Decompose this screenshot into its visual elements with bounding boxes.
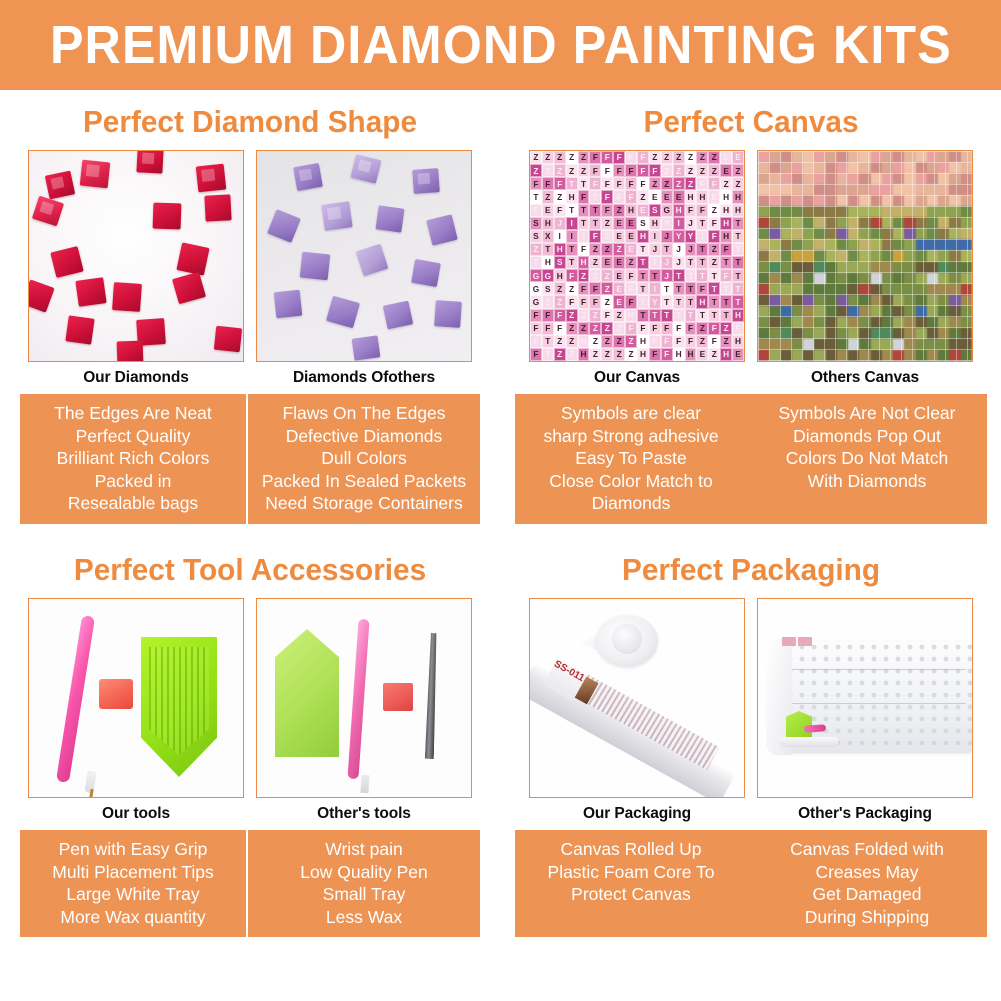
symbol-cell: Z [613,309,625,322]
symbol-cell: T [637,309,649,322]
symbol-cell: F [685,335,697,348]
symbol-cell: E [732,348,744,361]
symbol-cell: F [566,269,578,282]
symbol-cell: Z [566,348,578,361]
symbol-cell: H [685,190,697,203]
symbol-cell: T [637,269,649,282]
symbol-cell: Z [613,335,625,348]
symbol-cell: H [720,230,732,243]
symbol-cell: Z [661,151,673,164]
symbol-cell: F [625,190,637,203]
symbol-cell: Z [566,151,578,164]
photo-our-canvas: ZZZZZFFFFFZZZZZZEEZZZZZFFFFFFZZZZZEZFFFT… [529,150,745,362]
symbol-cell: E [661,190,673,203]
symbol-cell: F [589,164,601,177]
symbol-cell: Z [554,348,566,361]
symbol-cell: G [530,295,542,308]
mailer-seam [776,703,966,704]
symbol-cell: F [625,151,637,164]
panel-our-diamonds: The Edges Are Neat Perfect Quality Brill… [20,394,246,524]
panel-pair: Canvas Rolled Up Plastic Foam Core To Pr… [501,830,1001,937]
symbol-cell: F [578,243,590,256]
symbol-cell: F [649,322,661,335]
symbol-cell: Z [685,164,697,177]
caption-our-diamonds: Our Diamonds [28,369,244,387]
panel-line: Canvas Rolled Up [517,838,745,861]
symbol-cell: Z [589,269,601,282]
symbol-cell: T [732,217,744,230]
panel-line: Plastic Foam Core To [517,861,745,884]
photo-our-diamonds [28,150,244,362]
symbol-cell: T [566,256,578,269]
symbol-cell: E [613,217,625,230]
symbol-cell: G [530,269,542,282]
symbol-cell: H [696,295,708,308]
symbol-cell: Z [554,164,566,177]
symbol-cell: Z [696,322,708,335]
symbol-cell: T [578,217,590,230]
symbol-cell: Z [661,177,673,190]
symbol-cell: Z [625,348,637,361]
symbol-cell: Z [601,243,613,256]
symbol-cell: H [732,190,744,203]
symbol-cell: H [554,243,566,256]
mailer-tab-icon [782,637,796,646]
panel-line: Low Quality Pen [250,861,478,884]
symbol-cell: E [542,204,554,217]
caption-other-tools: Other's tools [256,805,472,823]
symbol-cell: Z [601,322,613,335]
panel-line: Packed in [22,470,244,493]
symbol-cell: H [720,204,732,217]
panel-other-diamonds: Flaws On The Edges Defective Diamonds Du… [248,394,480,524]
symbol-cell: F [601,204,613,217]
tweezers-icon [425,633,438,759]
symbol-cell: H [696,190,708,203]
symbol-cell: Z [613,348,625,361]
symbol-cell: Z [708,348,720,361]
symbol-cell: H [542,256,554,269]
symbol-cell: H [720,190,732,203]
symbol-cell: T [637,243,649,256]
section-canvas: Perfect Canvas ZZZZZFFFFFZZZZZZEEZZZZZFF… [501,92,1001,540]
panel-line: sharp Strong adhesive [517,425,745,448]
symbol-cell: Z [589,256,601,269]
symbol-cell: H [673,348,685,361]
pen-needle-icon [89,789,93,798]
symbol-cell: T [661,243,673,256]
caption-our-packaging: Our Packaging [529,805,745,823]
symbol-cell: F [637,164,649,177]
symbol-cell: F [625,282,637,295]
symbol-cell: F [566,295,578,308]
symbol-cell: Z [589,243,601,256]
panel-line: Symbols Are Not Clear [749,402,985,425]
symbol-cell: F [637,177,649,190]
symbol-cell: Z [601,335,613,348]
symbol-cell: Z [578,151,590,164]
symbol-cell: T [661,282,673,295]
panel-line: Flaws On The Edges [250,402,478,425]
symbol-cell: Z [554,151,566,164]
symbol-cell: J [554,217,566,230]
panel-pair: Pen with Easy Grip Multi Placement Tips … [0,830,500,937]
symbol-cell: F [601,151,613,164]
symbol-cell: T [696,256,708,269]
symbol-cell: Z [708,243,720,256]
symbol-cell: G [542,269,554,282]
symbol-cell: F [696,204,708,217]
photo-other-diamonds [256,150,472,362]
red-diamonds-art [29,151,243,361]
symbol-cell: F [673,335,685,348]
symbol-cell: T [720,295,732,308]
symbol-cell: F [708,335,720,348]
wax-square-icon [383,683,413,711]
symbol-cell: F [613,151,625,164]
symbol-cell: Z [673,164,685,177]
symbol-cell: F [589,295,601,308]
photo-our-packaging: SS-011 [529,598,745,798]
symbol-cell: T [708,309,720,322]
symbol-cell: T [685,269,697,282]
symbol-cell: F [625,177,637,190]
symbol-cell: Z [708,151,720,164]
caption-pair: Our Packaging Other's Packaging [501,805,1001,823]
symbol-cell: T [696,230,708,243]
symbol-cell: Z [613,243,625,256]
panel-line: Creases May [749,861,985,884]
panel-other-packaging: Canvas Folded with Creases May Get Damag… [747,830,987,937]
symbol-cell: T [685,282,697,295]
symbol-cell: Z [554,282,566,295]
symbol-cell: Z [673,177,685,190]
symbol-cell: F [613,177,625,190]
symbol-cell: Z [589,309,601,322]
symbol-cell: Z [542,164,554,177]
symbol-cell: T [732,256,744,269]
symbol-cell: F [554,309,566,322]
symbol-cell: T [566,243,578,256]
symbol-cell: T [589,204,601,217]
symbol-cell: T [589,217,601,230]
photo-pair [0,150,500,362]
symbol-cell: F [696,177,708,190]
panel-line: Diamonds [517,492,745,515]
symbol-cell: F [578,190,590,203]
symbol-cell: H [542,217,554,230]
symbol-cell: I [554,230,566,243]
panel-line: With Diamonds [749,470,985,493]
symbol-cell: Z [625,335,637,348]
photo-others-canvas [757,150,973,362]
symbol-cell: T [649,269,661,282]
symbol-cell: E [625,217,637,230]
photo-our-tools [28,598,244,798]
symbol-cell: S [554,256,566,269]
symbol-cell: Z [673,151,685,164]
symbol-cell: E [720,151,732,164]
symbol-cell: Z [578,164,590,177]
photo-pair: ZZZZZFFFFFZZZZZZEEZZZZZFFFFFFZZZZZEZFFFT… [501,150,1001,362]
symbol-cell: Z [601,217,613,230]
photo-pair [0,598,500,798]
symbol-cell: E [649,190,661,203]
symbol-cell: F [554,322,566,335]
panel-other-tools: Wrist pain Low Quality Pen Small Tray Le… [248,830,480,937]
symbol-cell: F [542,309,554,322]
symbol-cell: Z [566,309,578,322]
panel-others-canvas: Symbols Are Not Clear Diamonds Pop Out C… [747,394,987,524]
caption-other-packaging: Other's Packaging [757,805,973,823]
section-heading: Perfect Canvas [511,92,991,137]
symbol-cell: H [685,348,697,361]
panel-line: Wrist pain [250,838,478,861]
symbol-cell: F [601,177,613,190]
symbol-cell: F [625,164,637,177]
symbol-cell: Z [708,204,720,217]
caption-pair: Our tools Other's tools [0,805,500,823]
symbol-cell: J [685,217,697,230]
symbol-cell: E [637,204,649,217]
section-tool-accessories: Perfect Tool Accessories [0,540,500,988]
symbol-cell: F [589,151,601,164]
symbol-cell: Y [649,295,661,308]
symbol-cell: T [696,217,708,230]
symbol-cell: E [613,269,625,282]
symbol-cell: Z [578,322,590,335]
symbol-cell: F [625,269,637,282]
symbol-cell: T [720,256,732,269]
symbol-cell: Z [720,177,732,190]
symbol-cell: E [625,230,637,243]
symbol-cell: T [720,282,732,295]
symbol-cell: I [649,282,661,295]
symbol-cell: E [625,243,637,256]
symbol-cell: T [542,335,554,348]
symbol-cell: T [732,269,744,282]
panel-line: More Wax quantity [22,906,244,929]
symbol-cell: H [637,335,649,348]
pink-pen-icon [347,619,369,779]
panel-line: Canvas Folded with [749,838,985,861]
symbol-cell: T [696,269,708,282]
symbol-cell: Z [696,151,708,164]
panel-line: Packed In Sealed Packets [250,470,478,493]
symbol-cell: T [566,204,578,217]
symbol-cell: H [554,269,566,282]
symbol-cell: T [673,309,685,322]
symbol-cell: S [542,282,554,295]
symbol-cell: Z [649,151,661,164]
symbol-cell: J [661,256,673,269]
symbol-cell: T [637,295,649,308]
symbol-cell: H [673,204,685,217]
panel-line: Large White Tray [22,883,244,906]
symbol-cell: T [696,243,708,256]
symbol-cell: F [661,322,673,335]
symbol-cell: F [542,322,554,335]
symbol-cell: F [589,282,601,295]
symbol-cell: Z [530,243,542,256]
symbol-cell: T [530,190,542,203]
symbol-cell: T [578,177,590,190]
panel-line: Pen with Easy Grip [22,838,244,861]
symbol-cell: F [613,164,625,177]
symbol-cell: F [625,322,637,335]
symbol-cell: F [720,243,732,256]
symbol-cell: F [601,190,613,203]
symbol-cell: E [613,230,625,243]
symbol-cell: T [530,256,542,269]
panel-line: Easy To Paste [517,447,745,470]
caption-our-canvas: Our Canvas [529,369,745,387]
panel-line: Multi Placement Tips [22,861,244,884]
section-packaging: Perfect Packaging SS-011 [501,540,1001,988]
symbol-cell: H [732,335,744,348]
symbol-cell: T [661,295,673,308]
symbol-cell: H [720,348,732,361]
symbol-cell: H [566,190,578,203]
symbol-cell: T [673,282,685,295]
symbol-cell: H [625,309,637,322]
symbol-cell: T [542,243,554,256]
symbol-cell: Z [578,269,590,282]
symbol-cell: Z [554,190,566,203]
symbol-cell: Z [601,269,613,282]
panel-line: Need Storage Containers [250,492,478,515]
symbol-cell: T [708,295,720,308]
symbol-cell: Z [601,295,613,308]
symbol-cell: Z [566,282,578,295]
panel-line: Colors Do Not Match [749,447,985,470]
panel-our-tools: Pen with Easy Grip Multi Placement Tips … [20,830,246,937]
symbol-cell: F [613,190,625,203]
other-packaging-art [758,599,972,797]
symbol-cell: Z [601,282,613,295]
symbol-cell: Z [708,164,720,177]
caption-our-tools: Our tools [28,805,244,823]
caption-pair: Our Canvas Others Canvas [501,369,1001,387]
symbol-cell: F [696,282,708,295]
symbol-cell: T [732,295,744,308]
symbol-cell: F [530,204,542,217]
symbol-cell: I [566,217,578,230]
symbol-cell: Z [566,164,578,177]
symbol-cell: T [696,309,708,322]
symbol-cell: E [613,256,625,269]
symbol-cell: F [589,230,601,243]
symbol-cell: S [649,204,661,217]
symbol-cell: T [578,230,590,243]
symbol-cell: T [732,230,744,243]
symbol-cell: H [625,204,637,217]
symbol-cell: Z [601,230,613,243]
symbol-cell: Z [601,348,613,361]
symbol-cell: T [673,295,685,308]
symbol-cell: F [530,348,542,361]
panel-line: Protect Canvas [517,883,745,906]
symbol-cell: Z [625,256,637,269]
symbol-cell: I [649,230,661,243]
symbol-cell: T [649,256,661,269]
symbol-cell: J [673,243,685,256]
symbol-cell: J [673,256,685,269]
symbol-cell: T [708,282,720,295]
symbol-cell: T [578,204,590,217]
symbol-cell: T [732,282,744,295]
symbol-cell: Z [720,335,732,348]
symbol-cell: Z [732,164,744,177]
symbol-cell: X [542,230,554,243]
symbol-cell: Z [589,348,601,361]
symbol-cell: Z [589,322,601,335]
symbol-cell: F [601,164,613,177]
photo-other-packaging [757,598,973,798]
symbol-cell: Z [708,256,720,269]
symbol-cell: Z [542,190,554,203]
symbol-cell: S [530,217,542,230]
our-packaging-art: SS-011 [530,599,744,797]
symbol-cell: T [566,177,578,190]
panel-our-canvas: Symbols are clear sharp Strong adhesive … [515,394,747,524]
photo-other-tools [256,598,472,798]
symbol-cell: F [685,204,697,217]
symbol-cell: Z [554,335,566,348]
caption-pair: Our Diamonds Diamonds Ofothers [0,369,500,387]
section-heading: Perfect Tool Accessories [10,540,490,585]
symbol-cell: Z [696,164,708,177]
symbol-cell: T [720,309,732,322]
symbol-cell: H [732,204,744,217]
symbol-cell: Z [685,151,697,164]
symbol-cell: T [685,295,697,308]
symbol-cell: H [578,348,590,361]
symbol-cell: F [649,164,661,177]
panel-line: Brilliant Rich Colors [22,447,244,470]
symbol-cell: F [554,177,566,190]
symbol-cell: E [613,282,625,295]
symbol-cell: F [542,177,554,190]
panel-line: The Edges Are Neat [22,402,244,425]
infographic-page: PREMIUM DIAMOND PAINTING KITS Perfect Di… [0,0,1001,1001]
panel-line: Defective Diamonds [250,425,478,448]
symbol-cell: Z [578,309,590,322]
symbol-cell: H [732,309,744,322]
symbol-cell: T [732,243,744,256]
pink-pen-icon [56,615,95,783]
symbol-cell: E [720,164,732,177]
our-tools-art [29,599,243,797]
symbol-cell: Z [649,177,661,190]
symbol-cell: G [661,204,673,217]
small-green-tray-icon [275,629,339,757]
symbol-cell: F [578,295,590,308]
symbol-cell: G [530,282,542,295]
symbol-cell: H [637,230,649,243]
symbol-cell: J [661,230,673,243]
symbol-cell: F [708,217,720,230]
symbol-grid-art: ZZZZZFFFFFZZZZZZEEZZZZZFFFFFFZZZZZEZFFFT… [530,151,744,361]
symbol-cell: F [708,230,720,243]
symbol-cell: F [601,309,613,322]
page-title: PREMIUM DIAMOND PAINTING KITS [50,18,952,72]
symbol-cell: F [637,322,649,335]
symbol-cell: F [685,322,697,335]
symbol-cell: E [708,190,720,203]
symbol-cell: F [625,295,637,308]
symbol-cell: T [708,269,720,282]
